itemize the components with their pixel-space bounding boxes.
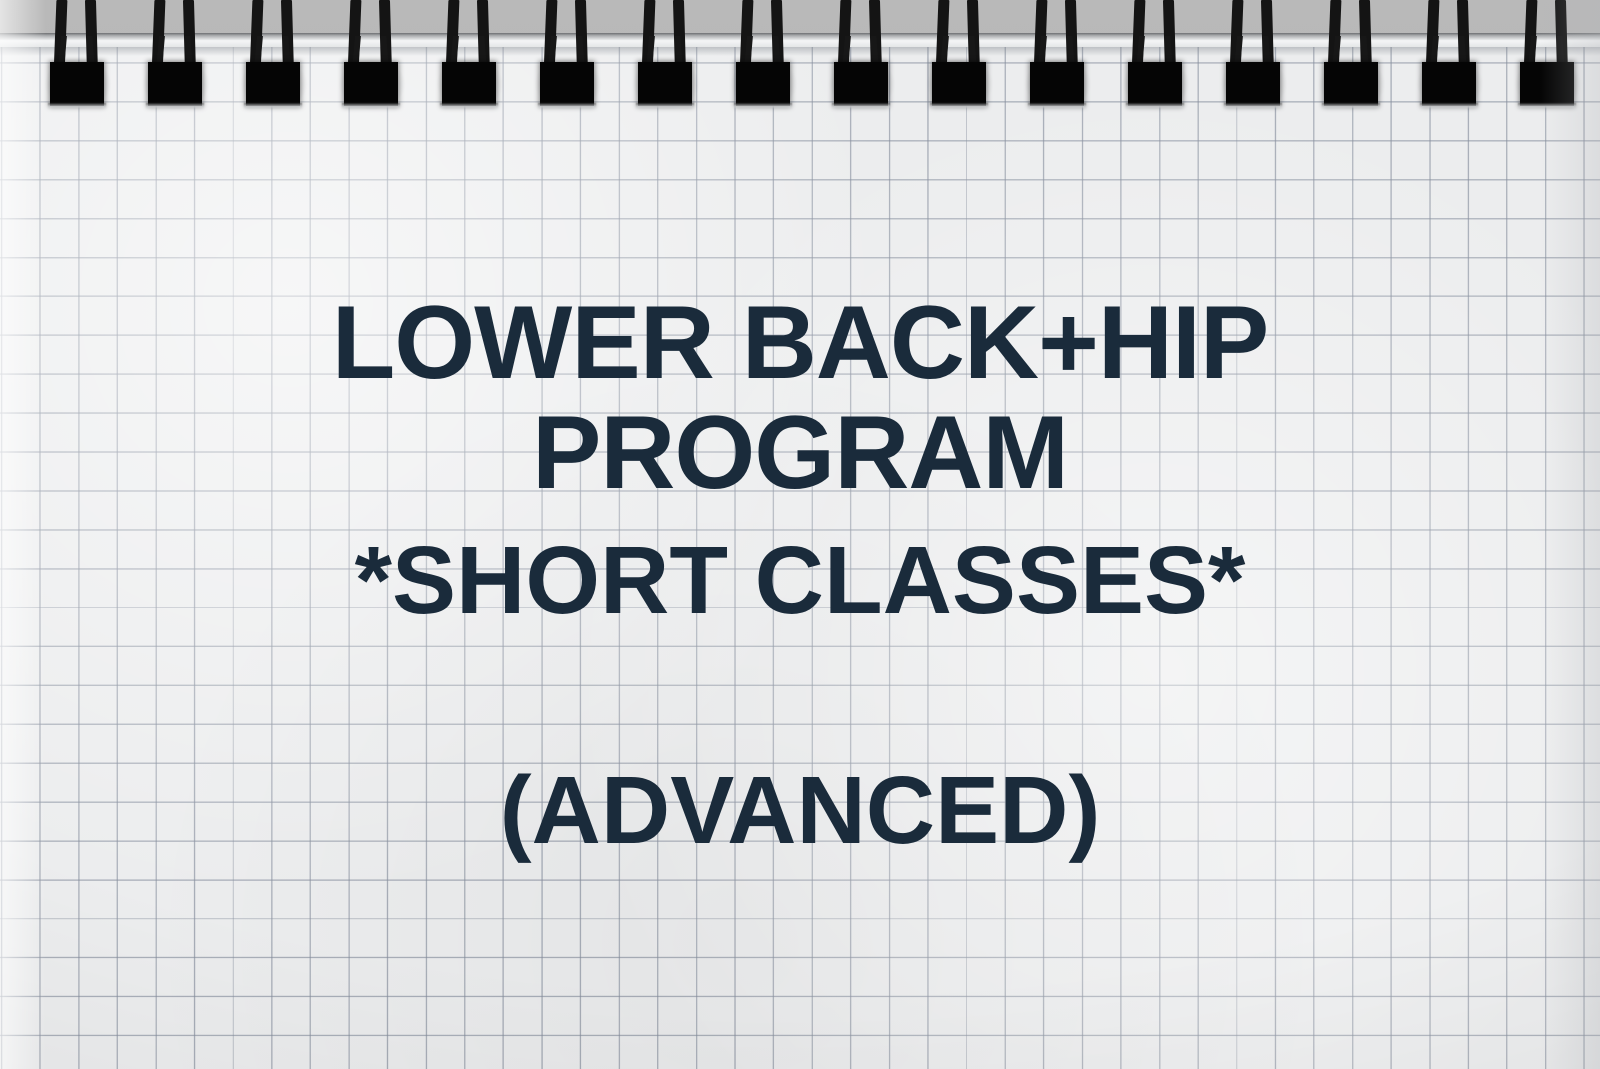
title-line-4: (ADVANCED) xyxy=(500,760,1101,862)
title-line-1: LOWER BACK+HIP xyxy=(332,288,1268,398)
title-line-2: PROGRAM xyxy=(532,398,1068,508)
notepad-poster: LOWER BACK+HIP PROGRAM *SHORT CLASSES* (… xyxy=(0,0,1600,1069)
poster-headline: LOWER BACK+HIP PROGRAM *SHORT CLASSES* (… xyxy=(0,0,1600,1069)
title-line-3: *SHORT CLASSES* xyxy=(355,530,1246,632)
